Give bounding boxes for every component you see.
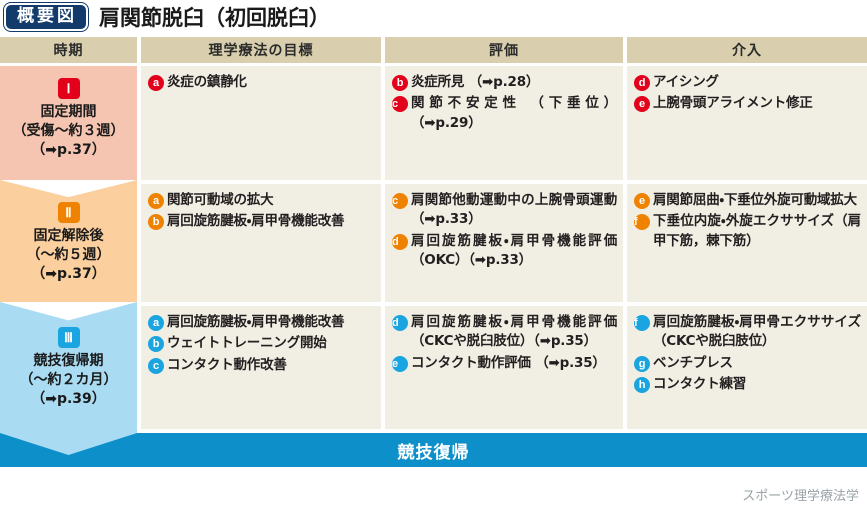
phase-cell-3: Ⅲ 競技復帰期 （〜約２カ月） （➡p.39） <box>0 302 137 433</box>
list-item: cコンタクト動作改善 <box>148 356 375 375</box>
list-item: c肩関節他動運動中の上腕骨頭運動 （➡p.33） <box>392 191 617 230</box>
phase-numeral-3: Ⅲ <box>58 327 80 348</box>
overview-diagram: 概要図 肩関節脱臼（初回脱臼） 時期 理学療法の目標 評価 介入 Ⅰ 固定期間 … <box>0 0 867 519</box>
evaluation-cell-2: c肩関節他動運動中の上腕骨頭運動 （➡p.33）d肩回旋筋腱板・肩甲骨機能評価（… <box>385 184 623 302</box>
diagram-heading: 肩関節脱臼（初回脱臼） <box>99 2 330 32</box>
phase-duration-1: （受傷〜約３週） <box>0 122 137 141</box>
item-text: アイシング <box>653 74 719 90</box>
item-text: 肩回旋筋腱板・肩甲骨機能評価（CKCや脱臼肢位）（➡p.35） <box>411 314 617 349</box>
item-tag-badge: d <box>634 75 650 91</box>
intervention-cell-2: e肩関節屈曲・下垂位外旋可動域拡大f下垂位内旋・外旋エクササイズ（肩甲下筋，棘下… <box>627 184 867 302</box>
item-tag-badge: g <box>634 356 650 372</box>
item-tag-badge: b <box>148 336 164 352</box>
item-text: 上腕骨頭アライメント修正 <box>653 95 813 111</box>
item-text: コンタクト動作改善 <box>167 357 287 373</box>
column-header-goal: 理学療法の目標 <box>141 37 381 63</box>
intervention-cell-3: f肩回旋筋腱板・肩甲骨エクササイズ（CKCや脱臼肢位）gベンチプレスhコンタクト… <box>627 306 867 429</box>
item-tag-badge: a <box>148 315 164 331</box>
list-item: hコンタクト練習 <box>634 375 861 394</box>
item-tag-badge: b <box>148 214 164 230</box>
evaluation-list-2: c肩関節他動運動中の上腕骨頭運動 （➡p.33）d肩回旋筋腱板・肩甲骨機能評価（… <box>385 184 623 278</box>
phase-duration-2: （〜約５週） <box>0 246 137 265</box>
evaluation-cell-1: b炎症所見 （➡p.28）c関節不安定性 （下垂位）（➡p.29） <box>385 66 623 180</box>
item-text: コンタクト練習 <box>653 376 746 392</box>
item-text: 肩回旋筋腱板・肩甲骨エクササイズ（CKCや脱臼肢位） <box>653 314 861 349</box>
list-item: b肩回旋筋腱板・肩甲骨機能改善 <box>148 212 375 231</box>
banner-label: 競技復帰 <box>398 438 470 463</box>
list-item: d肩回旋筋腱板・肩甲骨機能評価（OKC）（➡p.33） <box>392 232 617 271</box>
item-text: 炎症の鎮静化 <box>167 74 247 90</box>
list-item: bウェイトトレーニング開始 <box>148 334 375 353</box>
goal-cell-1: a炎症の鎮静化 <box>141 66 381 180</box>
phase-name-2: 固定解除後 <box>0 227 137 246</box>
goal-list-1: a炎症の鎮静化 <box>141 66 381 100</box>
item-text: 下垂位内旋・外旋エクササイズ（肩甲下筋，棘下筋） <box>653 213 861 248</box>
phase-cell-2: Ⅱ 固定解除後 （〜約５週） （➡p.37） <box>0 180 137 302</box>
column-header-evaluation: 評価 <box>385 37 623 63</box>
item-tag-badge: e <box>392 356 408 372</box>
intervention-cell-1: dアイシングe上腕骨頭アライメント修正 <box>627 66 867 180</box>
evaluation-list-1: b炎症所見 （➡p.28）c関節不安定性 （下垂位）（➡p.29） <box>385 66 623 141</box>
item-text: ベンチプレス <box>653 355 733 371</box>
item-tag-badge: d <box>392 315 408 331</box>
goal-cell-3: a肩回旋筋腱板・肩甲骨機能改善bウェイトトレーニング開始cコンタクト動作改善 <box>141 306 381 429</box>
list-item: c関節不安定性 （下垂位）（➡p.29） <box>392 94 617 133</box>
list-item: f肩回旋筋腱板・肩甲骨エクササイズ（CKCや脱臼肢位） <box>634 313 861 352</box>
list-item: e肩関節屈曲・下垂位外旋可動域拡大 <box>634 191 861 210</box>
list-item: a関節可動域の拡大 <box>148 191 375 210</box>
item-tag-badge: a <box>148 193 164 209</box>
item-tag-badge: c <box>392 193 408 209</box>
item-tag-badge: h <box>634 377 650 393</box>
list-item: d肩回旋筋腱板・肩甲骨機能評価（CKCや脱臼肢位）（➡p.35） <box>392 313 617 352</box>
evaluation-cell-3: d肩回旋筋腱板・肩甲骨機能評価（CKCや脱臼肢位）（➡p.35）eコンタクト動作… <box>385 306 623 429</box>
list-item: f下垂位内旋・外旋エクササイズ（肩甲下筋，棘下筋） <box>634 212 861 251</box>
diagram-badge: 概要図 <box>4 3 88 31</box>
list-item: e上腕骨頭アライメント修正 <box>634 94 861 113</box>
phase-pageref-3: （➡p.39） <box>0 390 137 410</box>
goal-list-3: a肩回旋筋腱板・肩甲骨機能改善bウェイトトレーニング開始cコンタクト動作改善 <box>141 306 381 383</box>
list-item: dアイシング <box>634 73 861 92</box>
item-tag-badge: b <box>392 75 408 91</box>
item-text: 肩関節屈曲・下垂位外旋可動域拡大 <box>653 192 857 208</box>
goal-list-2: a関節可動域の拡大b肩回旋筋腱板・肩甲骨機能改善 <box>141 184 381 240</box>
item-text: ウェイトトレーニング開始 <box>167 335 327 351</box>
list-item: a肩回旋筋腱板・肩甲骨機能改善 <box>148 313 375 332</box>
list-item: a炎症の鎮静化 <box>148 73 375 92</box>
item-tag-badge: f <box>634 315 650 331</box>
phase-name-1: 固定期間 <box>0 103 137 122</box>
item-text: 肩回旋筋腱板・肩甲骨機能改善 <box>167 314 344 330</box>
item-tag-badge: c <box>392 96 408 112</box>
item-text: 炎症所見 （➡p.28） <box>411 74 539 90</box>
item-tag-badge: d <box>392 234 408 250</box>
item-text: 関節不安定性 （下垂位）（➡p.29） <box>411 95 617 130</box>
item-text: 関節可動域の拡大 <box>167 192 273 208</box>
phase-cell-1: Ⅰ 固定期間 （受傷〜約３週） （➡p.37） <box>0 66 137 180</box>
intervention-list-3: f肩回旋筋腱板・肩甲骨エクササイズ（CKCや脱臼肢位）gベンチプレスhコンタクト… <box>627 306 867 402</box>
column-header-period: 時期 <box>0 37 137 63</box>
phase-numeral-2: Ⅱ <box>58 202 80 223</box>
list-item: b炎症所見 （➡p.28） <box>392 73 617 92</box>
item-tag-badge: e <box>634 96 650 112</box>
intervention-list-1: dアイシングe上腕骨頭アライメント修正 <box>627 66 867 122</box>
source-watermark: スポーツ理学療法学 <box>742 485 859 504</box>
item-text: 肩回旋筋腱板・肩甲骨機能評価（OKC）（➡p.33） <box>411 233 617 268</box>
phase-duration-3: （〜約２カ月） <box>0 371 137 390</box>
item-tag-badge: a <box>148 75 164 91</box>
page-title: 概要図 肩関節脱臼（初回脱臼） <box>0 0 867 34</box>
intervention-list-2: e肩関節屈曲・下垂位外旋可動域拡大f下垂位内旋・外旋エクササイズ（肩甲下筋，棘下… <box>627 184 867 259</box>
item-tag-badge: c <box>148 358 164 374</box>
return-to-sport-banner: 競技復帰 <box>0 433 867 467</box>
item-tag-badge: e <box>634 193 650 209</box>
phase-pageref-2: （➡p.37） <box>0 265 137 285</box>
phase-pageref-1: （➡p.37） <box>0 141 137 161</box>
list-item: eコンタクト動作評価 （➡p.35） <box>392 354 617 373</box>
item-text: 肩回旋筋腱板・肩甲骨機能改善 <box>167 213 344 229</box>
goal-cell-2: a関節可動域の拡大b肩回旋筋腱板・肩甲骨機能改善 <box>141 184 381 302</box>
item-text: 肩関節他動運動中の上腕骨頭運動 （➡p.33） <box>411 192 617 227</box>
list-item: gベンチプレス <box>634 354 861 373</box>
item-tag-badge: f <box>634 214 650 230</box>
column-header-intervention: 介入 <box>627 37 867 63</box>
evaluation-list-3: d肩回旋筋腱板・肩甲骨機能評価（CKCや脱臼肢位）（➡p.35）eコンタクト動作… <box>385 306 623 381</box>
phase-numeral-1: Ⅰ <box>58 78 80 99</box>
phase-name-3: 競技復帰期 <box>0 352 137 371</box>
item-text: コンタクト動作評価 （➡p.35） <box>411 355 606 371</box>
